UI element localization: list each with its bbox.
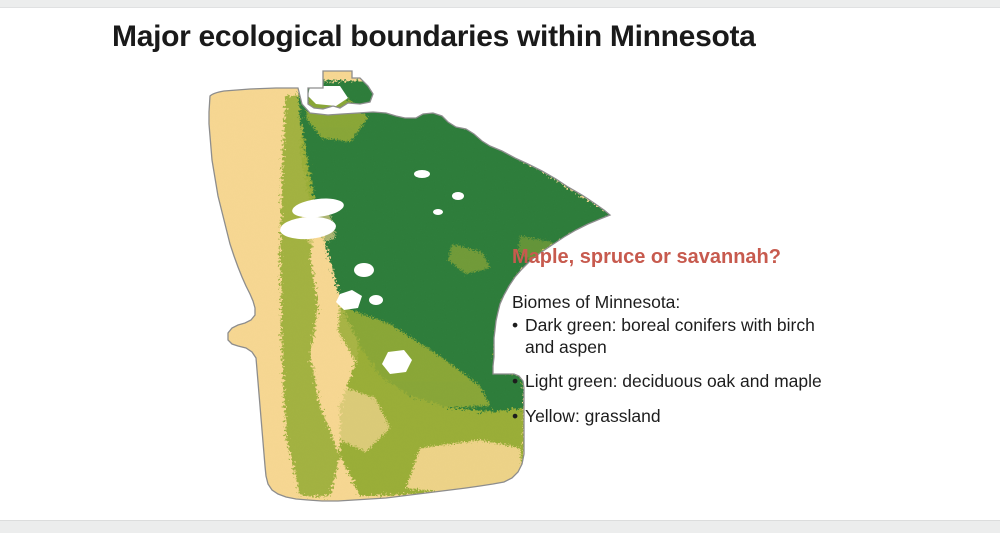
list-item-label: Yellow: grassland	[525, 406, 661, 426]
caption-lead: Biomes of Minnesota:	[512, 291, 822, 313]
list-item-label: Light green: deciduous oak and maple	[525, 371, 822, 391]
bullet-icon: •	[512, 314, 518, 336]
leech-lake-satellite	[369, 295, 383, 305]
lake-winnibigoshish	[354, 263, 374, 277]
bullet-icon: •	[512, 405, 518, 427]
list-item: • Yellow: grassland	[512, 405, 822, 427]
arrowhead-lake-a	[414, 170, 430, 178]
viewer-bottom-band	[0, 520, 1000, 533]
map-caption-block: Maple, spruce or savannah? Biomes of Min…	[512, 246, 822, 427]
arrowhead-lake-c	[433, 209, 443, 215]
biome-legend-list: • Dark green: boreal conifers with birch…	[512, 314, 822, 426]
caption-heading: Maple, spruce or savannah?	[512, 246, 822, 269]
list-item-label: Dark green: boreal conifers with birch a…	[525, 315, 815, 357]
list-item: • Dark green: boreal conifers with birch…	[512, 314, 822, 358]
list-item: • Light green: deciduous oak and maple	[512, 370, 822, 392]
slide-viewer: Major ecological boundaries within Minne…	[0, 0, 1000, 533]
slide-surface: Major ecological boundaries within Minne…	[0, 8, 1000, 520]
viewer-top-band	[0, 0, 1000, 8]
page-title: Major ecological boundaries within Minne…	[112, 20, 756, 54]
bullet-icon: •	[512, 370, 518, 392]
arrowhead-lake-b	[452, 192, 464, 200]
